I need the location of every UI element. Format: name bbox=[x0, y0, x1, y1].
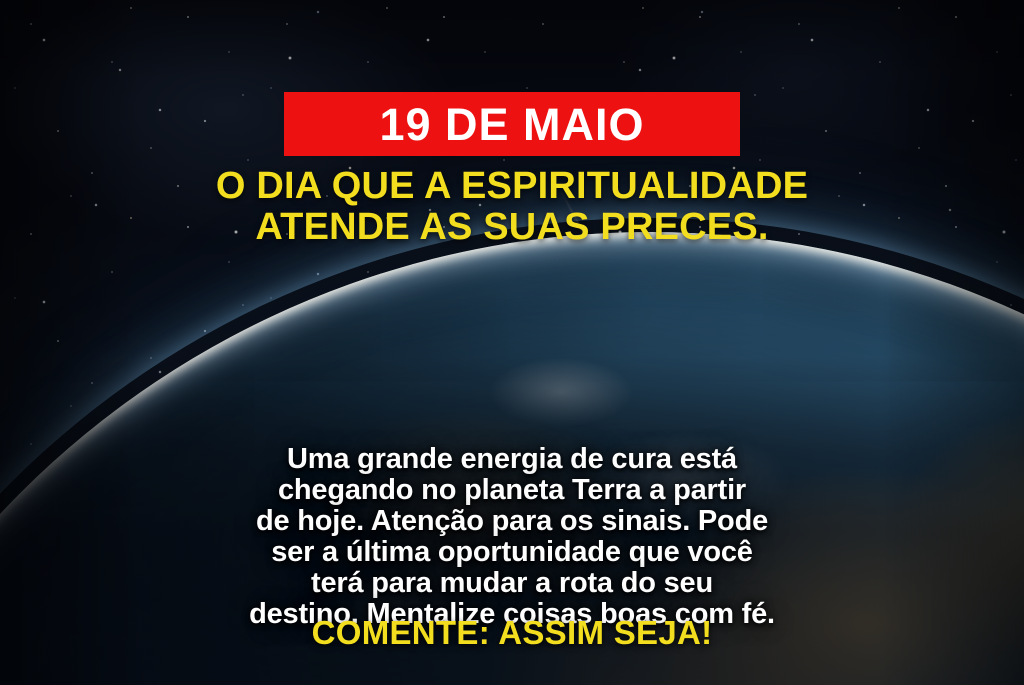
headline-line-2: ATENDE AS SUAS PRECES. bbox=[0, 207, 1024, 248]
body-line-3: de hoje. Atenção para os sinais. Pode bbox=[0, 506, 1024, 537]
body-line-1: Uma grande energia de cura está bbox=[0, 444, 1024, 475]
poster-content: 19 DE MAIO O DIA QUE A ESPIRITUALIDADE A… bbox=[0, 0, 1024, 685]
date-banner: 19 DE MAIO bbox=[284, 92, 740, 156]
call-to-action-text: COMENTE: ASSIM SEJA! bbox=[0, 615, 1024, 651]
poster-canvas: 19 DE MAIO O DIA QUE A ESPIRITUALIDADE A… bbox=[0, 0, 1024, 685]
body-paragraph: Uma grande energia de cura está chegando… bbox=[0, 444, 1024, 630]
body-line-5: terá para mudar a rota do seu bbox=[0, 568, 1024, 599]
date-banner-label: 19 DE MAIO bbox=[379, 102, 644, 147]
body-line-4: ser a última oportunidade que você bbox=[0, 537, 1024, 568]
headline-line-1: O DIA QUE A ESPIRITUALIDADE bbox=[0, 166, 1024, 207]
body-line-2: chegando no planeta Terra a partir bbox=[0, 475, 1024, 506]
page-title: O DIA QUE A ESPIRITUALIDADE ATENDE AS SU… bbox=[0, 166, 1024, 248]
